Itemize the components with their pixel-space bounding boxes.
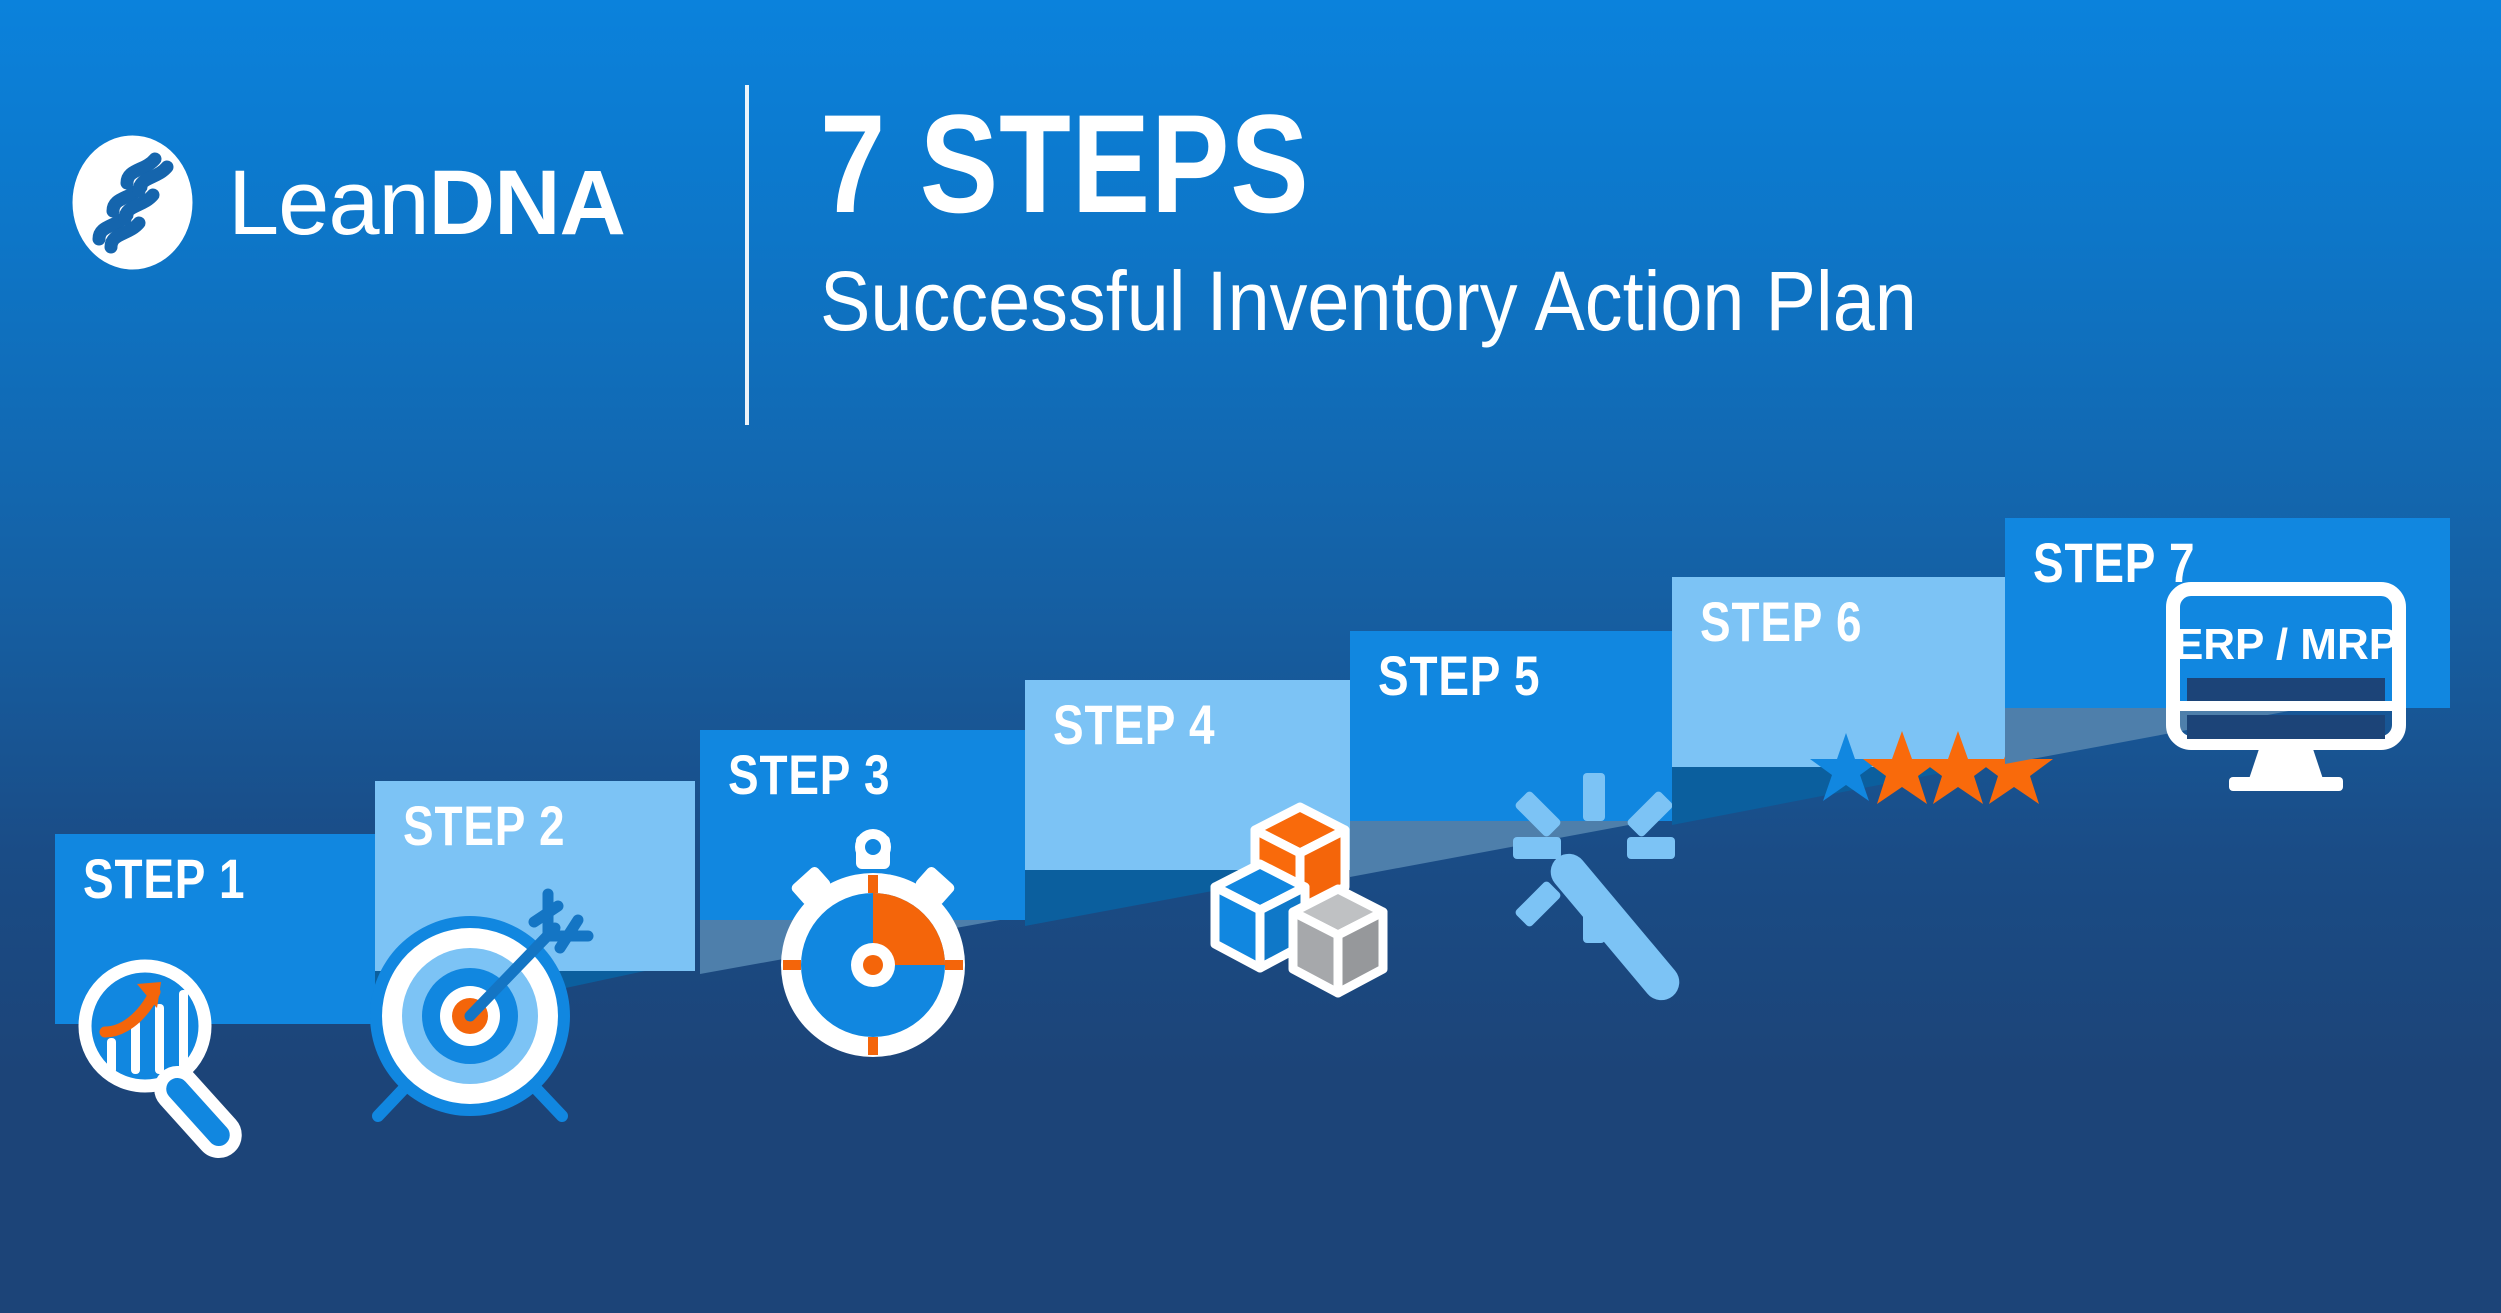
target-bullseye-arrow-icon	[320, 876, 620, 1146]
step-card-7[interactable]: STEP 7 ERP / MRP	[2005, 518, 2450, 708]
step-card-4[interactable]: STEP 4	[1025, 680, 1350, 870]
magic-wand-icon	[1505, 771, 1775, 1021]
step-card-3-label: STEP 3	[728, 742, 890, 807]
magnifying-glass-bar-chart-icon	[45, 934, 275, 1164]
step-card-6[interactable]: STEP 6	[1672, 577, 2007, 767]
star-rating-icon	[1814, 729, 2064, 819]
step-card-1-label: STEP 1	[83, 846, 245, 911]
step-card-4-label: STEP 4	[1053, 692, 1215, 757]
erp-mrp-monitor-icon: ERP / MRP	[2165, 583, 2425, 803]
step-card-2[interactable]: STEP 2	[375, 781, 695, 971]
steps-staircase: STEP 1 STEP	[0, 0, 2501, 1313]
step-card-5[interactable]: STEP 5	[1350, 631, 1675, 821]
stacked-cubes-icon	[1185, 795, 1435, 1025]
infographic-canvas: LeanDNA 7 STEPS Successful Inventory Act…	[0, 0, 2501, 1313]
step-card-5-label: STEP 5	[1378, 643, 1540, 708]
monitor-screen-label: ERP / MRP	[2174, 620, 2398, 669]
stopwatch-icon	[758, 825, 988, 1075]
step-card-6-label: STEP 6	[1700, 589, 1862, 654]
step-card-3[interactable]: STEP 3	[700, 730, 1025, 920]
step-card-2-label: STEP 2	[403, 793, 565, 858]
